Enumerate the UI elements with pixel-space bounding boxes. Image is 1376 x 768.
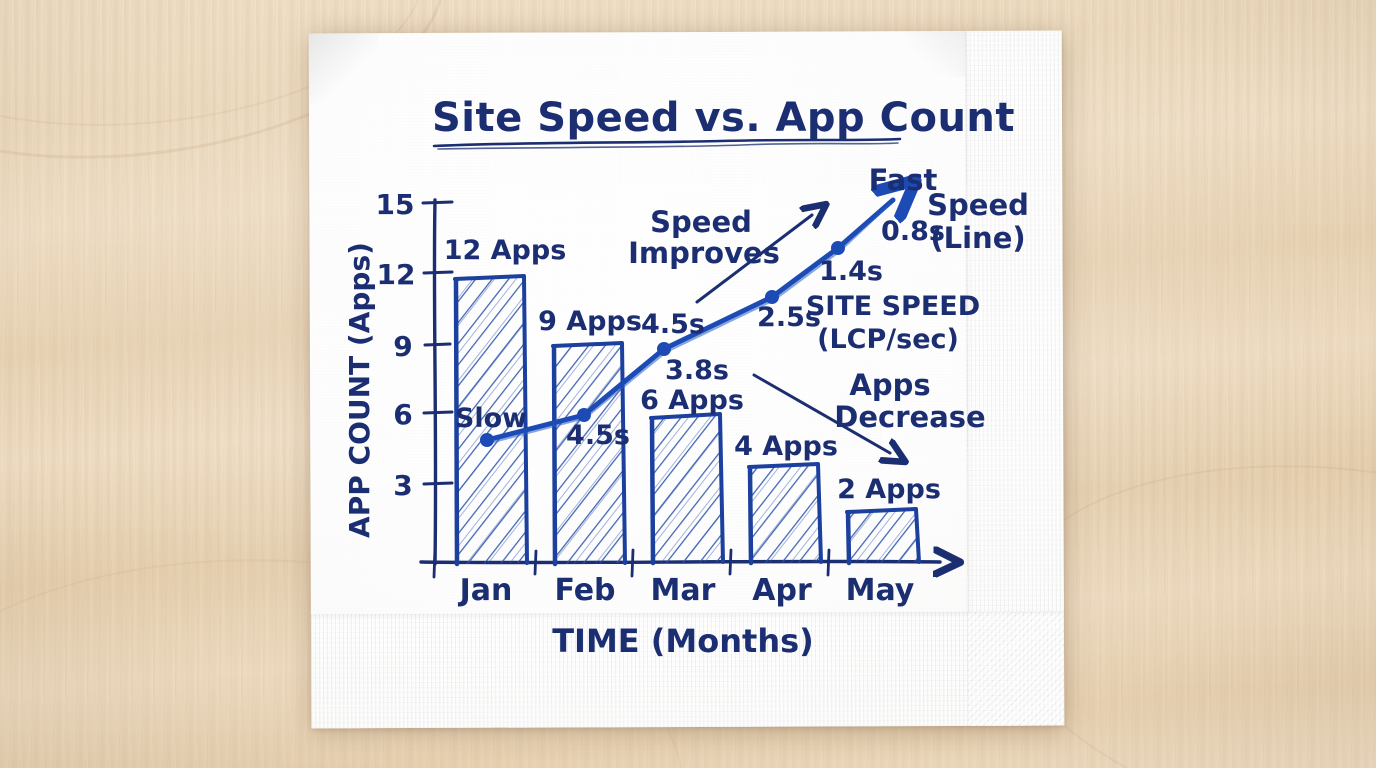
napkin-fold-highlight — [906, 31, 966, 77]
napkin-sketch-scene: Site Speed vs. App Count 15 12 9 6 3 — [0, 0, 1376, 768]
napkin-fold-highlight — [309, 33, 379, 103]
napkin-emboss-corner — [968, 613, 1064, 726]
napkin-emboss-band-bottom — [311, 612, 1064, 729]
paper-napkin — [309, 31, 1065, 729]
